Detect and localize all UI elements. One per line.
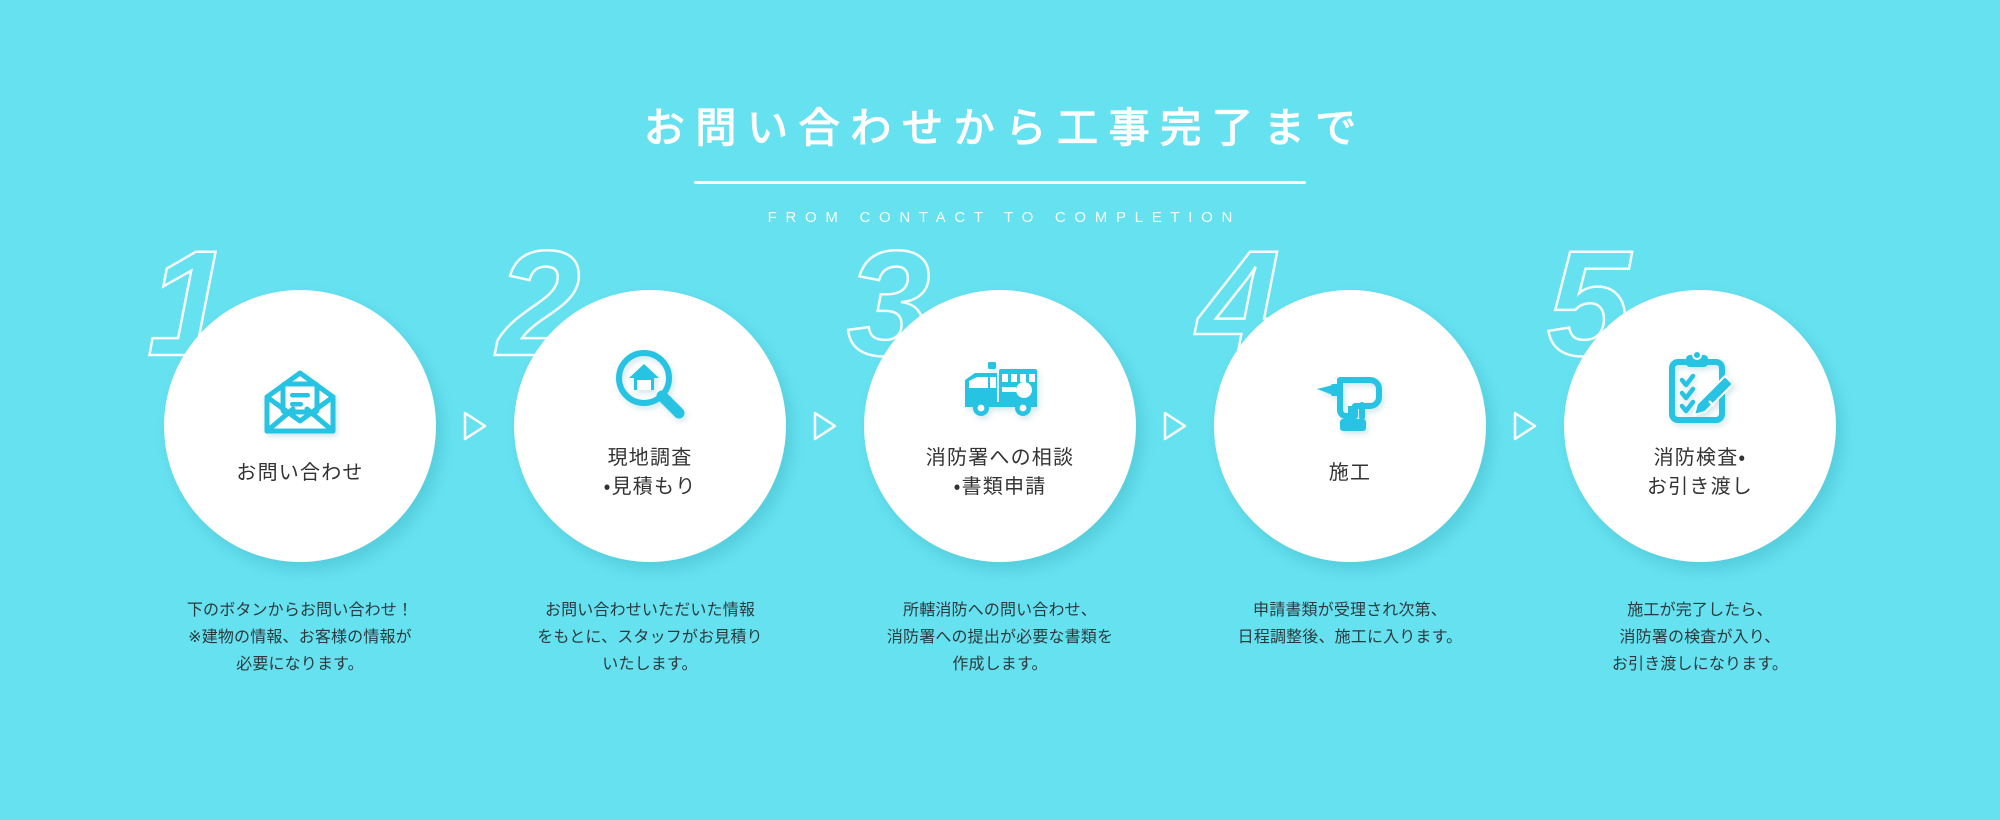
arrow-separator-4 bbox=[1505, 290, 1545, 562]
step-description-4: 申請書類が受理され次第、 日程調整後、施工に入ります。 bbox=[1238, 598, 1463, 652]
clipboard-pen-icon bbox=[1657, 344, 1743, 430]
step-label-4: 施工 bbox=[1329, 459, 1371, 488]
step-item-3[interactable]: 3 bbox=[845, 290, 1155, 679]
step-description-1: 下のボタンからお問い合わせ！ ※建物の情報、お客様の情報が 必要になります。 bbox=[187, 598, 413, 679]
steps-row: 1 お問い合わせ 下のボタン bbox=[0, 290, 2000, 679]
power-drill-icon bbox=[1307, 359, 1393, 445]
arrow-separator-2 bbox=[805, 290, 845, 562]
step-circle-wrap-3: 消防署への相談 ・書類申請 bbox=[864, 290, 1136, 562]
step-label-1: お問い合わせ bbox=[236, 459, 363, 488]
step-circle-3[interactable]: 消防署への相談 ・書類申請 bbox=[864, 290, 1136, 562]
section-header: お問い合わせから工事完了まで FROM CONTACT TO COMPLETIO… bbox=[0, 104, 2000, 226]
house-magnifier-icon bbox=[607, 344, 693, 430]
step-label-3: 消防署への相談 ・書類申請 bbox=[926, 444, 1074, 502]
step-label-5: 消防検査・ お引き渡し bbox=[1647, 444, 1753, 502]
open-envelope-icon bbox=[257, 359, 343, 445]
step-circle-wrap-4: 施工 bbox=[1214, 290, 1486, 562]
process-flow-section: お問い合わせから工事完了まで FROM CONTACT TO COMPLETIO… bbox=[0, 0, 2000, 820]
title-divider bbox=[694, 181, 1306, 184]
arrow-separator-3 bbox=[1155, 290, 1195, 562]
fire-truck-icon bbox=[957, 344, 1043, 430]
step-description-3: 所轄消防への問い合わせ、 消防署への提出が必要な書類を 作成します。 bbox=[887, 598, 1113, 679]
step-circle-2[interactable]: 現地調査 ・見積もり bbox=[514, 290, 786, 562]
step-circle-wrap-5: 消防検査・ お引き渡し bbox=[1564, 290, 1836, 562]
step-description-2: お問い合わせいただいた情報 をもとに、スタッフがお見積り いたします。 bbox=[537, 598, 762, 679]
step-label-2: 現地調査 ・見積もり bbox=[604, 444, 697, 502]
step-item-2[interactable]: 2 現地調査 ・見積もり お問い合わせいただいた情報 をもとに、スタッフがお見積… bbox=[495, 290, 805, 679]
step-item-5[interactable]: 5 消防検査 bbox=[1545, 290, 1855, 679]
step-circle-5[interactable]: 消防検査・ お引き渡し bbox=[1564, 290, 1836, 562]
arrow-separator-1 bbox=[455, 290, 495, 562]
step-circle-wrap-2: 現地調査 ・見積もり bbox=[514, 290, 786, 562]
step-item-4[interactable]: 4 施工 申請書類が受理され bbox=[1195, 290, 1505, 652]
step-item-1[interactable]: 1 お問い合わせ 下のボタン bbox=[145, 290, 455, 679]
step-circle-1[interactable]: お問い合わせ bbox=[164, 290, 436, 562]
step-circle-wrap-1: お問い合わせ bbox=[164, 290, 436, 562]
page-title: お問い合わせから工事完了まで bbox=[0, 104, 2000, 153]
step-circle-4[interactable]: 施工 bbox=[1214, 290, 1486, 562]
page-subtitle: FROM CONTACT TO COMPLETION bbox=[0, 209, 2000, 226]
step-description-5: 施工が完了したら、 消防署の検査が入り、 お引き渡しになります。 bbox=[1612, 598, 1788, 679]
